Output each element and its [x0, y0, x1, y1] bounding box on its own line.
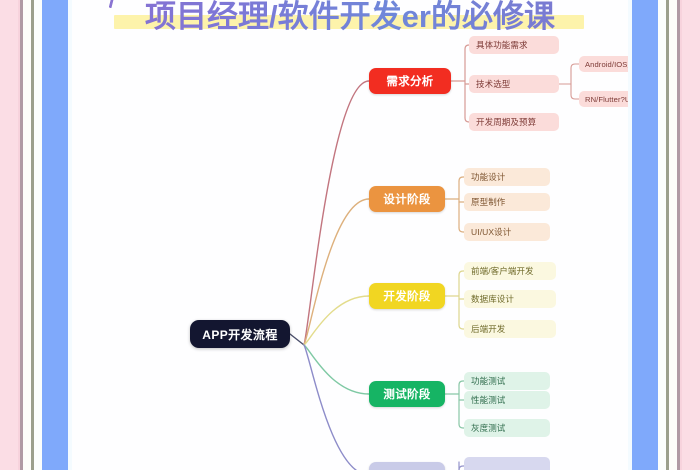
- right-white-gap-2: [658, 0, 666, 470]
- olive-rule: [31, 0, 34, 470]
- mindmap-leaf-node-3-0[interactable]: 功能测试: [464, 372, 550, 390]
- mindmap-leaf-node-1-1-label: 原型制作: [471, 196, 505, 208]
- right-olive-rule: [666, 0, 669, 470]
- mauve-rule: [20, 0, 23, 470]
- mindmap-leaf-node-2-0-label: 前端/客户端开发: [471, 265, 534, 277]
- mindmap-leaf-node-4-0[interactable]: [464, 457, 550, 470]
- connector-line: [571, 95, 579, 99]
- mindmap-branch-node-3[interactable]: 测试阶段: [369, 381, 445, 407]
- mindmap-leaf-node-3-2-label: 灰度测试: [471, 422, 505, 434]
- mindmap-leaf-node-0-0-label: 具体功能需求: [476, 39, 528, 51]
- mindmap-leaf-node-3-2[interactable]: 灰度测试: [464, 419, 550, 437]
- mindmap-leaf-node-1-0[interactable]: 功能设计: [464, 168, 550, 186]
- mindmap-branch-node-2-label: 开发阶段: [383, 288, 430, 304]
- blue-band: [42, 0, 68, 470]
- mindmap-subleaf-node-0-1-0[interactable]: Android/IOS原生: [579, 56, 628, 72]
- connector-line: [304, 296, 369, 345]
- right-white-gap-3: [628, 0, 632, 470]
- mindmap-root-node[interactable]: APP开发流程: [190, 320, 290, 348]
- mindmap-branch-node-4[interactable]: [369, 462, 445, 470]
- mindmap-leaf-node-0-1[interactable]: 技术选型: [469, 75, 559, 93]
- mindmap-leaf-node-3-1[interactable]: 性能测试: [464, 391, 550, 409]
- connector-line: [571, 64, 579, 68]
- connector-line: [304, 199, 369, 345]
- mindmap-leaf-node-1-1[interactable]: 原型制作: [464, 193, 550, 211]
- right-mauve-rule: [677, 0, 680, 470]
- connector-line: [304, 345, 369, 470]
- mindmap-leaf-node-0-2-label: 开发周期及预算: [476, 116, 536, 128]
- mindmap-root-node-label: APP开发流程: [202, 326, 277, 343]
- connector-line: [304, 345, 369, 394]
- right-pink-band: [682, 0, 700, 470]
- mindmap-leaf-node-0-1-label: 技术选型: [476, 78, 510, 90]
- white-gap-1: [23, 0, 31, 470]
- mindmap-leaf-node-2-0[interactable]: 前端/客户端开发: [464, 262, 556, 280]
- screenshot-root: 项目经理/软件开发er的必修课 APP开发流程需求分析具体功能需求技术选型And…: [0, 0, 700, 470]
- white-gap-2: [34, 0, 42, 470]
- mindmap-subleaf-node-0-1-1[interactable]: RN/Flutter?UniApp等: [579, 91, 628, 107]
- right-pink-inner: [680, 0, 682, 470]
- mindmap-subleaf-node-0-1-0-label: Android/IOS原生: [585, 59, 628, 70]
- outer-pink-band: [0, 0, 18, 470]
- mindmap-leaf-node-3-1-label: 性能测试: [471, 394, 505, 406]
- mindmap-leaf-node-0-2[interactable]: 开发周期及预算: [469, 113, 559, 131]
- right-white-gap-1: [669, 0, 677, 470]
- mindmap-branch-node-0-label: 需求分析: [386, 73, 433, 89]
- connector-line: [290, 334, 304, 345]
- mindmap-branch-node-0[interactable]: 需求分析: [369, 68, 451, 94]
- content-canvas: 项目经理/软件开发er的必修课 APP开发流程需求分析具体功能需求技术选型And…: [72, 0, 628, 470]
- mindmap-leaf-node-3-0-label: 功能测试: [471, 375, 505, 387]
- mindmap-leaf-node-2-1[interactable]: 数据库设计: [464, 290, 556, 308]
- right-blue-band: [632, 0, 658, 470]
- mindmap-leaf-node-2-2-label: 后端开发: [471, 323, 505, 335]
- mindmap-branch-node-1-label: 设计阶段: [383, 191, 430, 207]
- mindmap-leaf-node-2-1-label: 数据库设计: [471, 293, 514, 305]
- mindmap-branch-node-1[interactable]: 设计阶段: [369, 186, 445, 212]
- mindmap-leaf-node-1-0-label: 功能设计: [471, 171, 505, 183]
- mindmap-leaf-node-1-2-label: UI/UX设计: [471, 226, 511, 238]
- pink-inner-band: [18, 0, 20, 470]
- mindmap-subleaf-node-0-1-1-label: RN/Flutter?UniApp等: [585, 94, 628, 105]
- mindmap-branch-node-2[interactable]: 开发阶段: [369, 283, 445, 309]
- mindmap-leaf-node-0-0[interactable]: 具体功能需求: [469, 36, 559, 54]
- mindmap-leaf-node-1-2[interactable]: UI/UX设计: [464, 223, 550, 241]
- mindmap-leaf-node-2-2[interactable]: 后端开发: [464, 320, 556, 338]
- mindmap-branch-node-3-label: 测试阶段: [383, 386, 430, 402]
